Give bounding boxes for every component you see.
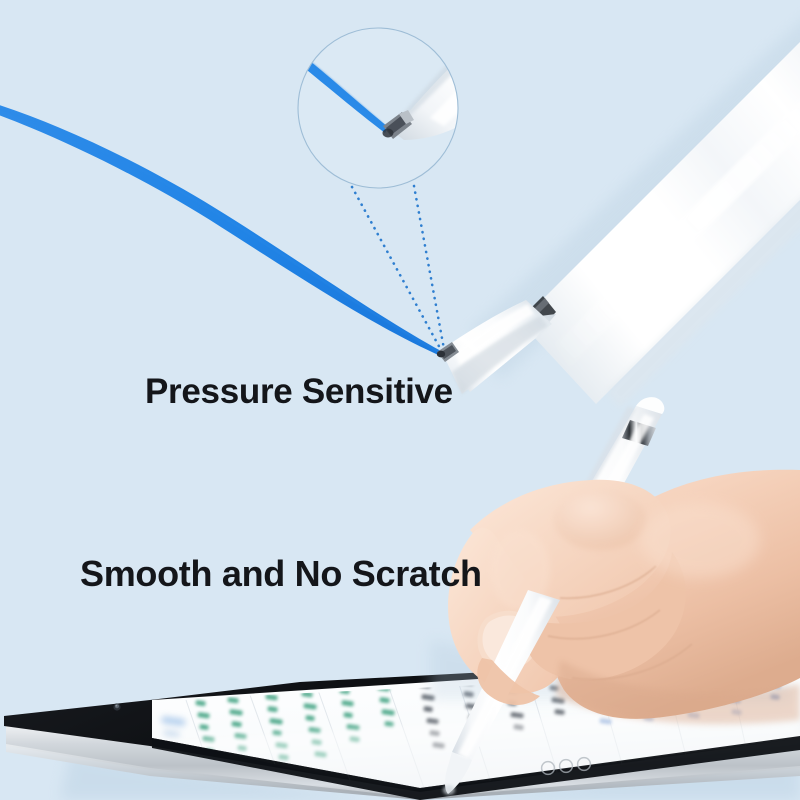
product-feature-image: Pressure Sensitive Smooth and No Scratch: [0, 0, 800, 800]
caption-pressure-sensitive: Pressure Sensitive: [145, 372, 453, 412]
caption-smooth-no-scratch: Smooth and No Scratch: [80, 553, 482, 595]
tablet-camera-dot: [113, 703, 120, 710]
